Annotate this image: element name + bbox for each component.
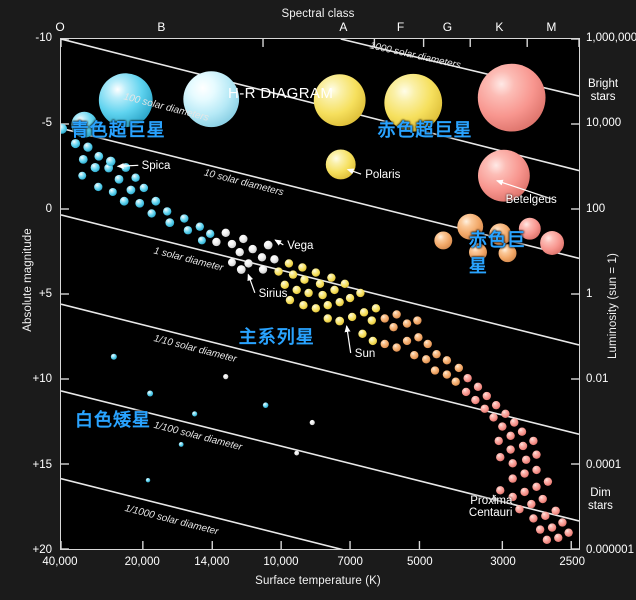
star-point	[539, 495, 547, 503]
dim-stars-note-line2: stars	[588, 500, 613, 513]
star-point	[424, 340, 432, 348]
star-point	[115, 175, 124, 184]
star-point	[264, 241, 273, 250]
luminosity-tick-0: 1,000,000	[586, 32, 636, 44]
magnitude-tick--10: -10	[35, 32, 52, 44]
solar-diameter-label-6: 1/1000 solar diameter	[123, 503, 220, 538]
star-point	[552, 507, 560, 515]
region-label-red-supergiants: 赤色超巨星	[378, 116, 473, 142]
dim-stars-note: Dim stars	[588, 487, 613, 513]
star-label-sirius: Sirius	[259, 288, 288, 301]
star-label-betelgeus: Betelgeus	[506, 194, 557, 207]
star-label-vega: Vega	[287, 240, 313, 253]
star-point	[536, 525, 544, 533]
magnitude-tick-p15: +15	[32, 459, 52, 471]
star-point	[381, 314, 389, 322]
star-point	[147, 390, 153, 396]
star-point	[520, 488, 528, 496]
star-point	[61, 124, 67, 134]
star-point	[356, 289, 364, 297]
temperature-tick-3000: 3000	[490, 556, 516, 568]
red-giant-6-disk	[540, 231, 564, 255]
star-point	[111, 354, 117, 360]
star-point	[285, 259, 293, 267]
star-point	[495, 437, 503, 445]
temperature-tick-10000: 10,000	[263, 556, 298, 568]
star-point	[368, 316, 376, 324]
red-supergiant-large-disk	[478, 64, 546, 132]
star-point	[274, 267, 282, 275]
star-point	[392, 310, 400, 318]
star-point	[151, 197, 160, 206]
star-point	[304, 289, 312, 297]
region-label-white-dwarfs: 白色矮星	[75, 406, 151, 432]
spectral-class-label-B: B	[157, 20, 165, 34]
diagram-title: H-R DIAGRAM	[228, 85, 333, 102]
star-point	[541, 512, 549, 520]
hr-diagram-figure: Spectral class Surface temperature (K) A…	[0, 0, 636, 600]
star-point	[83, 143, 92, 152]
star-point	[94, 183, 102, 191]
bright-stars-note-line2: stars	[588, 91, 618, 104]
star-point	[341, 280, 349, 288]
star-point	[120, 197, 129, 206]
star-point	[522, 456, 530, 464]
star-point	[312, 304, 320, 312]
star-point	[422, 355, 430, 363]
star-point	[327, 273, 335, 281]
spectral-class-label-G: G	[443, 20, 452, 34]
star-point	[432, 350, 440, 358]
star-point	[212, 238, 220, 246]
star-point	[316, 280, 324, 288]
star-point	[496, 486, 504, 494]
star-point	[403, 319, 411, 327]
star-point	[544, 477, 552, 485]
star-point	[263, 402, 269, 408]
star-point	[131, 174, 139, 182]
spectral-class-label-O: O	[55, 20, 64, 34]
star-point	[198, 236, 206, 244]
star-point	[554, 534, 562, 542]
star-point	[372, 304, 380, 312]
star-point	[312, 268, 320, 276]
star-point	[462, 388, 470, 396]
star-point	[228, 240, 236, 248]
polaris-disk	[326, 150, 356, 180]
temperature-tick-7000: 7000	[337, 556, 363, 568]
temperature-tick-5000: 5000	[407, 556, 433, 568]
star-point	[543, 536, 551, 544]
star-point	[94, 152, 103, 161]
star-point	[127, 186, 136, 195]
spectral-class-label-F: F	[397, 20, 404, 34]
luminosity-tick-4: 0.01	[586, 373, 608, 385]
luminosity-tick-1: 10,000	[586, 117, 621, 129]
magnitude-tick-0: 0	[46, 203, 52, 215]
region-label-main-sequence: 主系列星	[239, 323, 315, 349]
star-point	[564, 528, 572, 536]
star-point	[410, 351, 418, 359]
star-point	[330, 286, 338, 294]
star-point	[515, 505, 523, 513]
star-point	[413, 316, 421, 324]
spectral-class-label-A: A	[339, 20, 347, 34]
star-point	[335, 317, 344, 326]
star-point	[223, 374, 228, 379]
star-point	[237, 265, 246, 274]
magnitude-tick-p20: +20	[32, 544, 52, 556]
star-point	[529, 437, 537, 445]
star-point	[294, 451, 299, 456]
star-point	[244, 259, 252, 267]
star-point	[180, 214, 188, 222]
star-point	[348, 313, 356, 321]
plot-area: 1000 solar diameters100 solar diameters1…	[60, 38, 580, 550]
star-point	[121, 163, 130, 172]
star-point	[300, 276, 308, 284]
star-point	[403, 337, 411, 345]
leader-line-spica	[118, 165, 139, 166]
star-point	[192, 411, 197, 416]
solar-diameter-label-0: 1000 solar diameters	[369, 40, 462, 71]
star-point	[506, 432, 514, 440]
star-point	[289, 270, 297, 278]
star-point	[492, 401, 500, 409]
bright-stars-note: Bright stars	[588, 78, 618, 104]
star-label-proxima-centauri: ProximaCentauri	[448, 495, 512, 520]
star-point	[498, 422, 506, 430]
star-point	[443, 356, 451, 364]
star-point	[463, 374, 471, 382]
star-point	[236, 248, 244, 256]
star-point	[299, 301, 307, 309]
star-point	[369, 337, 377, 345]
star-point	[324, 301, 332, 309]
y-axis-left-title: Absolute magnitude	[22, 200, 34, 360]
star-point	[248, 245, 256, 253]
star-point	[529, 514, 537, 522]
temperature-tick-40000: 40,000	[42, 556, 77, 568]
star-point	[239, 235, 247, 243]
temperature-tick-14000: 14,000	[194, 556, 229, 568]
star-point	[206, 230, 214, 238]
y-axis-right-title: Luminosity (sun = 1)	[607, 226, 619, 386]
star-point	[474, 383, 482, 391]
star-point	[506, 445, 514, 453]
star-point	[79, 155, 88, 164]
star-point	[298, 263, 306, 271]
star-point	[358, 330, 366, 338]
luminosity-tick-2: 100	[586, 203, 605, 215]
luminosity-tick-5: 0.0001	[586, 459, 621, 471]
star-label-polaris: Polaris	[365, 169, 400, 182]
star-point	[146, 478, 150, 482]
star-point	[527, 500, 535, 508]
star-point	[318, 291, 326, 299]
star-point	[471, 396, 479, 404]
star-point	[324, 314, 332, 322]
x-axis-title: Surface temperature (K)	[0, 575, 636, 587]
region-label-red-giants: 赤色巨星	[469, 226, 542, 278]
dim-stars-note-line1: Dim	[588, 487, 613, 500]
magnitude-tick-p5: +5	[39, 288, 52, 300]
star-point	[509, 474, 517, 482]
spectral-class-label-K: K	[495, 20, 503, 34]
star-point	[481, 405, 489, 413]
star-point	[381, 340, 389, 348]
star-point	[455, 364, 463, 372]
star-point	[496, 453, 504, 461]
star-point	[135, 199, 144, 208]
leader-line-sirius	[248, 275, 255, 293]
luminosity-tick-6: 0.000001	[586, 544, 634, 556]
star-point	[510, 418, 518, 426]
star-point	[147, 209, 155, 217]
star-point	[518, 428, 526, 436]
star-point	[259, 265, 267, 273]
star-point	[270, 255, 278, 263]
star-point	[258, 253, 266, 261]
star-point	[392, 343, 400, 351]
star-label-sun: Sun	[355, 348, 375, 361]
star-point	[179, 442, 184, 447]
star-point	[336, 298, 344, 306]
star-point	[360, 308, 368, 316]
star-point	[140, 184, 148, 192]
temperature-tick-2500: 2500	[559, 556, 585, 568]
star-point	[443, 370, 451, 378]
star-point	[558, 518, 566, 526]
star-point	[346, 294, 354, 302]
solar-diameter-label-2: 10 solar diameters	[203, 167, 285, 198]
star-label-spica: Spica	[142, 160, 171, 173]
solar-diameter-label-3: 1 solar diameter	[152, 245, 225, 274]
leader-line-sun	[347, 326, 351, 353]
magnitude-tick-p10: +10	[32, 373, 52, 385]
star-point	[165, 218, 174, 227]
star-point	[196, 222, 204, 230]
star-point	[548, 523, 556, 531]
red-giant-7-disk	[434, 231, 452, 249]
star-point	[519, 442, 527, 450]
star-point	[163, 207, 171, 215]
star-point	[228, 258, 236, 266]
star-point	[431, 366, 439, 374]
temperature-tick-20000: 20,000	[125, 556, 160, 568]
spectral-class-label-M: M	[546, 20, 556, 34]
star-point	[414, 333, 422, 341]
star-point	[222, 229, 230, 237]
star-point	[532, 450, 540, 458]
luminosity-tick-3: 1	[586, 288, 592, 300]
magnitude-tick--5: -5	[42, 117, 52, 129]
leader-line-vega	[275, 240, 283, 245]
star-point	[532, 483, 540, 491]
star-point	[91, 163, 100, 172]
star-point	[509, 459, 517, 467]
star-point	[483, 392, 491, 400]
star-point	[532, 466, 540, 474]
spectral-class-axis-title: Spectral class	[0, 8, 636, 20]
star-point	[489, 413, 497, 421]
region-label-blue-supergiants: 青色超巨星	[71, 116, 166, 142]
star-point	[520, 469, 528, 477]
star-point	[184, 226, 192, 234]
star-point	[310, 420, 315, 425]
star-point	[78, 172, 86, 180]
star-point	[293, 286, 301, 294]
bright-stars-note-line1: Bright	[588, 78, 618, 91]
star-point	[109, 188, 117, 196]
star-point	[501, 410, 509, 418]
star-point	[452, 378, 460, 386]
star-point	[106, 157, 116, 167]
star-point	[389, 323, 397, 331]
